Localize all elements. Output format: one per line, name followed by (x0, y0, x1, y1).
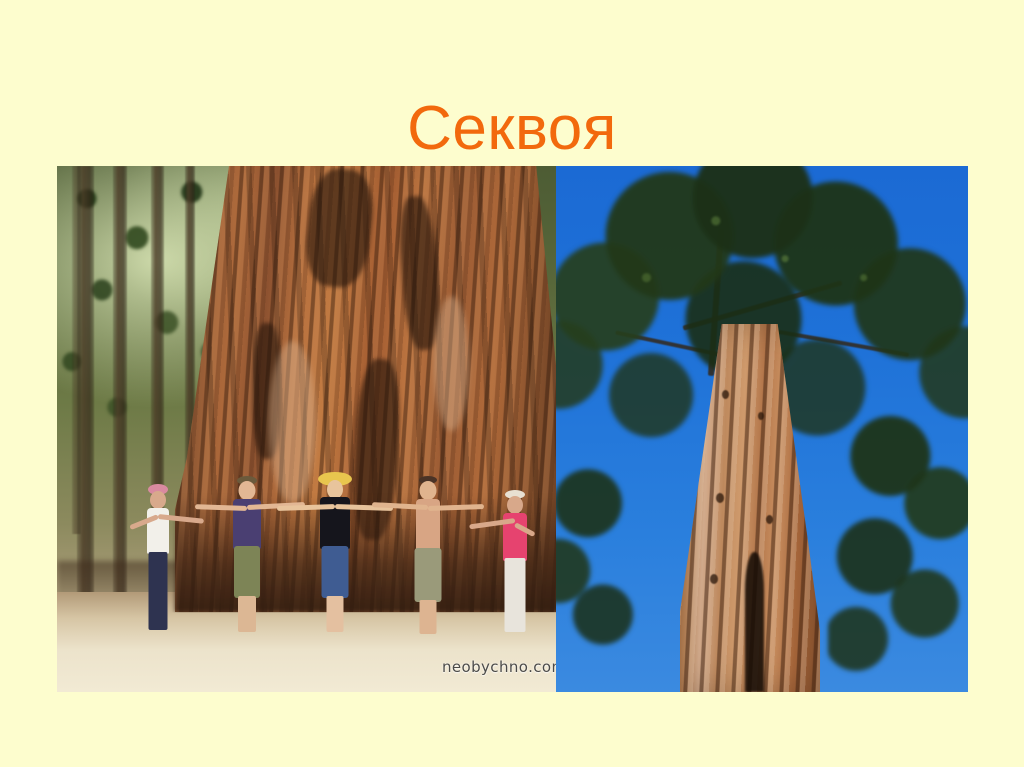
person-legs (149, 552, 168, 630)
photo-sequoia-crown (556, 166, 968, 692)
person-head (420, 481, 437, 500)
person-figure (222, 476, 272, 634)
trunk-hollow (745, 552, 763, 692)
presentation-slide: Секвоя (0, 0, 1024, 767)
photo-giant-sequoia-with-people: neobychno.com (57, 166, 556, 692)
person-legs (505, 558, 526, 632)
neighbouring-tree-left (556, 450, 655, 692)
page-title: Секвоя (0, 98, 1024, 160)
person-head (239, 481, 256, 500)
background-tree-trunk (113, 166, 127, 597)
neighbouring-tree-right (828, 397, 968, 692)
person-figure (135, 484, 181, 634)
person-legs (327, 596, 344, 632)
person-figure (492, 490, 538, 634)
background-tree-trunk (72, 166, 81, 534)
person-head (150, 491, 166, 509)
bark-cavity (722, 390, 729, 399)
photo-watermark: neobychno.com (442, 658, 556, 676)
person-shorts (234, 546, 260, 598)
photo-composite: neobychno.com (57, 166, 968, 692)
person-shorts (322, 546, 349, 598)
bark-highlight (434, 296, 469, 432)
person-legs (420, 600, 437, 634)
person-shorts (415, 548, 442, 602)
person-head (507, 496, 523, 514)
person-figure (309, 472, 361, 634)
person-legs (238, 596, 256, 632)
person-figure (402, 476, 454, 634)
